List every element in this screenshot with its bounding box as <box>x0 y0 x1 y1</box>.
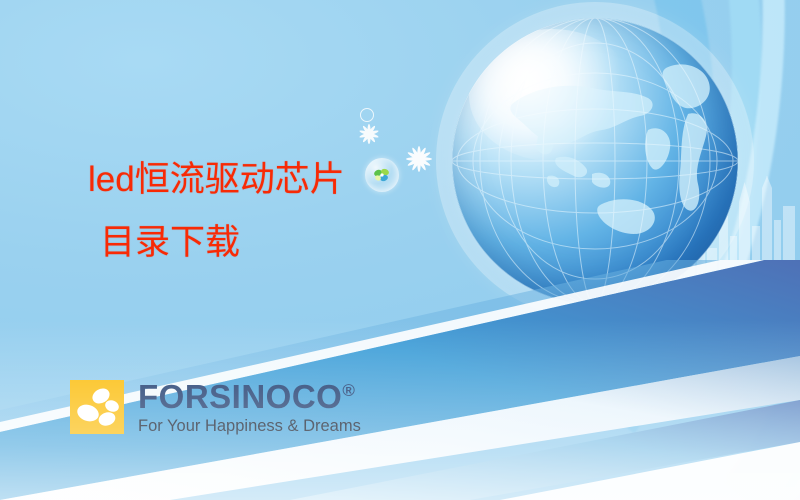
green-pinwheel-icon <box>372 165 392 185</box>
headline-line-1: led恒流驱动芯片 <box>88 162 345 198</box>
headline-latin: led <box>88 160 135 199</box>
forsinoco-petal-mark-icon <box>70 380 124 434</box>
petal-flower-glyph <box>70 380 124 434</box>
headline-cjk: 恒流驱动芯片 <box>135 160 345 200</box>
promo-banner: led恒流驱动芯片 目录下载 FORSINOCO® For Your Happi… <box>0 0 800 500</box>
headline-line-2: 目录下载 <box>100 226 345 261</box>
sparkle-small-icon <box>355 120 383 148</box>
brand-name: FORSINOCO® <box>138 380 361 414</box>
brand-text-block: FORSINOCO® For Your Happiness & Dreams <box>138 380 361 436</box>
bubble-pinwheel-top <box>365 158 399 192</box>
brand-logo-lockup: FORSINOCO® For Your Happiness & Dreams <box>70 380 361 436</box>
headline: led恒流驱动芯片 目录下载 <box>88 162 345 261</box>
registered-trademark-symbol: ® <box>342 381 355 400</box>
sparkle-large-icon <box>402 142 436 176</box>
brand-tagline: For Your Happiness & Dreams <box>138 416 361 436</box>
small-circle-outline <box>360 108 374 122</box>
brand-name-text: FORSINOCO <box>138 378 342 415</box>
